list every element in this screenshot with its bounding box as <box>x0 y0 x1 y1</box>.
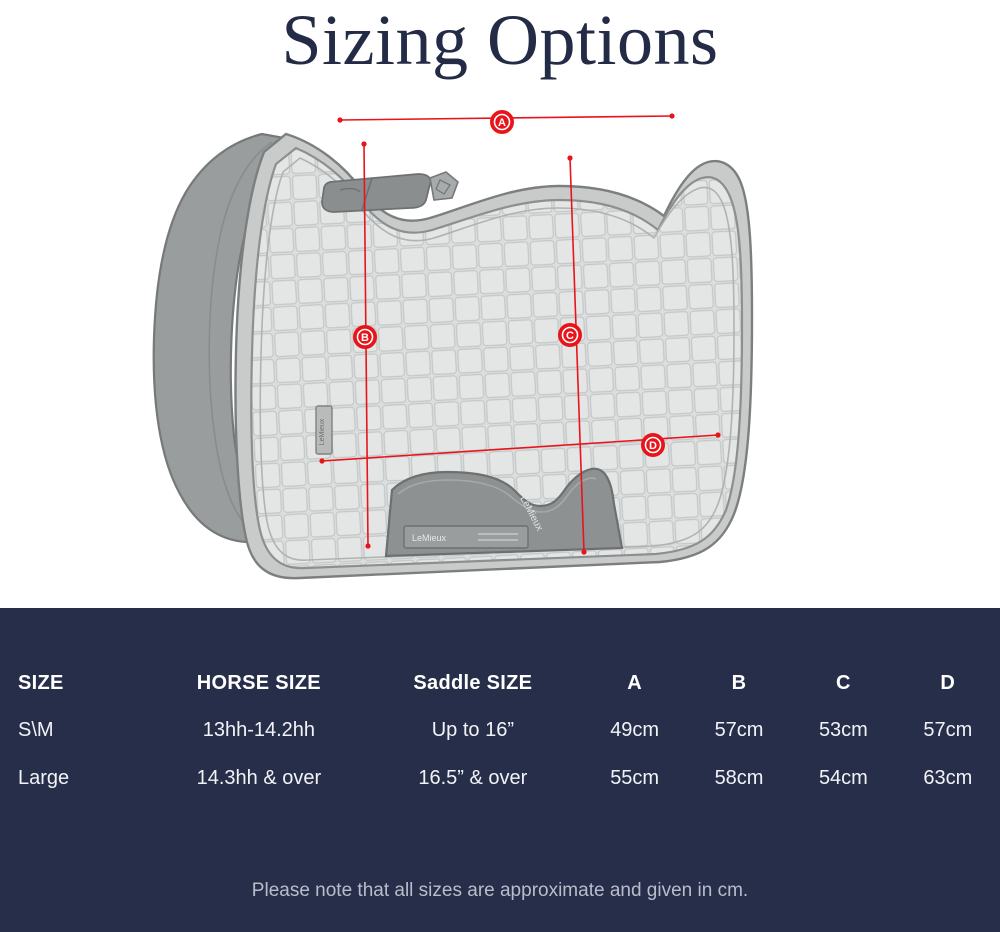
sizing-table: SIZE HORSE SIZE Saddle SIZE A B C D S\M … <box>0 660 1000 802</box>
girth-protection-panel: LeMieux LeMieux <box>386 469 622 556</box>
svg-text:D: D <box>649 440 657 452</box>
table-row: S\M 13hh-14.2hh Up to 16” 49cm 57cm 53cm… <box>0 706 1000 754</box>
cell-size: Large <box>0 754 154 802</box>
sizing-table-body: S\M 13hh-14.2hh Up to 16” 49cm 57cm 53cm… <box>0 706 1000 802</box>
sizing-table-header: SIZE HORSE SIZE Saddle SIZE A B C D <box>0 660 1000 706</box>
saddle-pad-illustration: LeMieux LeMieux LeMieux <box>0 86 1000 608</box>
svg-text:C: C <box>566 330 574 342</box>
cell-horse-size: 13hh-14.2hh <box>154 706 363 754</box>
marker-a: A <box>490 110 514 134</box>
sizing-table-panel: SIZE HORSE SIZE Saddle SIZE A B C D S\M … <box>0 608 1000 932</box>
cell-saddle-size: Up to 16” <box>363 706 582 754</box>
cell-a: 49cm <box>582 706 686 754</box>
column-header-saddle-size: Saddle SIZE <box>363 660 582 706</box>
column-header-b: B <box>687 660 791 706</box>
sizing-disclaimer-note: Please note that all sizes are approxima… <box>0 880 1000 902</box>
cell-horse-size: 14.3hh & over <box>154 754 363 802</box>
sizing-options-page: Sizing Options <box>0 0 1000 932</box>
cell-size: S\M <box>0 706 154 754</box>
cell-c: 53cm <box>791 706 895 754</box>
svg-text:LeMieux: LeMieux <box>412 533 447 543</box>
column-header-horse-size: HORSE SIZE <box>154 660 363 706</box>
column-header-a: A <box>582 660 686 706</box>
page-title: Sizing Options <box>0 0 1000 84</box>
saddle-pad-diagram: LeMieux LeMieux LeMieux <box>0 86 1000 608</box>
marker-d: D <box>641 433 665 457</box>
marker-b: B <box>353 325 377 349</box>
svg-text:B: B <box>361 332 369 344</box>
marker-c: C <box>558 323 582 347</box>
column-header-c: C <box>791 660 895 706</box>
svg-text:A: A <box>498 117 506 129</box>
cell-saddle-size: 16.5” & over <box>363 754 582 802</box>
column-header-d: D <box>896 660 1000 706</box>
table-row: Large 14.3hh & over 16.5” & over 55cm 58… <box>0 754 1000 802</box>
cell-d: 63cm <box>896 754 1000 802</box>
svg-text:LeMieux: LeMieux <box>319 418 326 445</box>
cell-b: 57cm <box>687 706 791 754</box>
cell-a: 55cm <box>582 754 686 802</box>
cell-d: 57cm <box>896 706 1000 754</box>
side-label-tab: LeMieux <box>316 406 332 454</box>
cell-c: 54cm <box>791 754 895 802</box>
cell-b: 58cm <box>687 754 791 802</box>
brand-emblem-icon <box>430 172 458 200</box>
column-header-size: SIZE <box>0 660 154 706</box>
table-header-row: SIZE HORSE SIZE Saddle SIZE A B C D <box>0 660 1000 706</box>
